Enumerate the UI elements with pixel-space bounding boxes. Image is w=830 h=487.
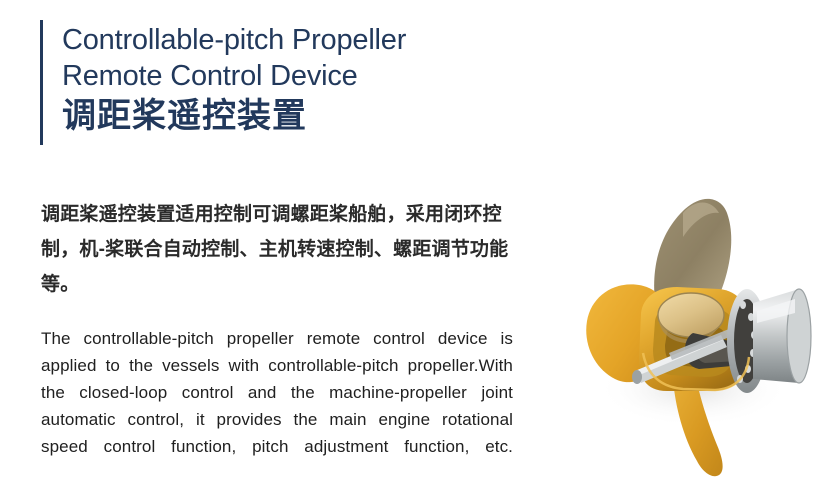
header-text-group: Controllable-pitch Propeller Remote Cont… — [62, 20, 406, 145]
header-accent-bar — [40, 20, 43, 145]
page-title-en-line1: Controllable-pitch Propeller — [62, 22, 406, 58]
product-page: Controllable-pitch Propeller Remote Cont… — [0, 0, 830, 483]
description-paragraph-en: The controllable-pitch propeller remote … — [41, 325, 513, 487]
description-paragraph-cn: 调距桨遥控装置适用控制可调螺距桨船舶，采用闭环控制，机-桨联合自动控制、主机转速… — [41, 197, 519, 302]
page-title-cn: 调距桨遥控装置 — [62, 95, 406, 137]
propeller-illustration — [543, 193, 830, 483]
propeller-push-rod-tip — [632, 370, 642, 384]
page-header: Controllable-pitch Propeller Remote Cont… — [40, 20, 406, 145]
page-title-en-line2: Remote Control Device — [62, 58, 406, 94]
